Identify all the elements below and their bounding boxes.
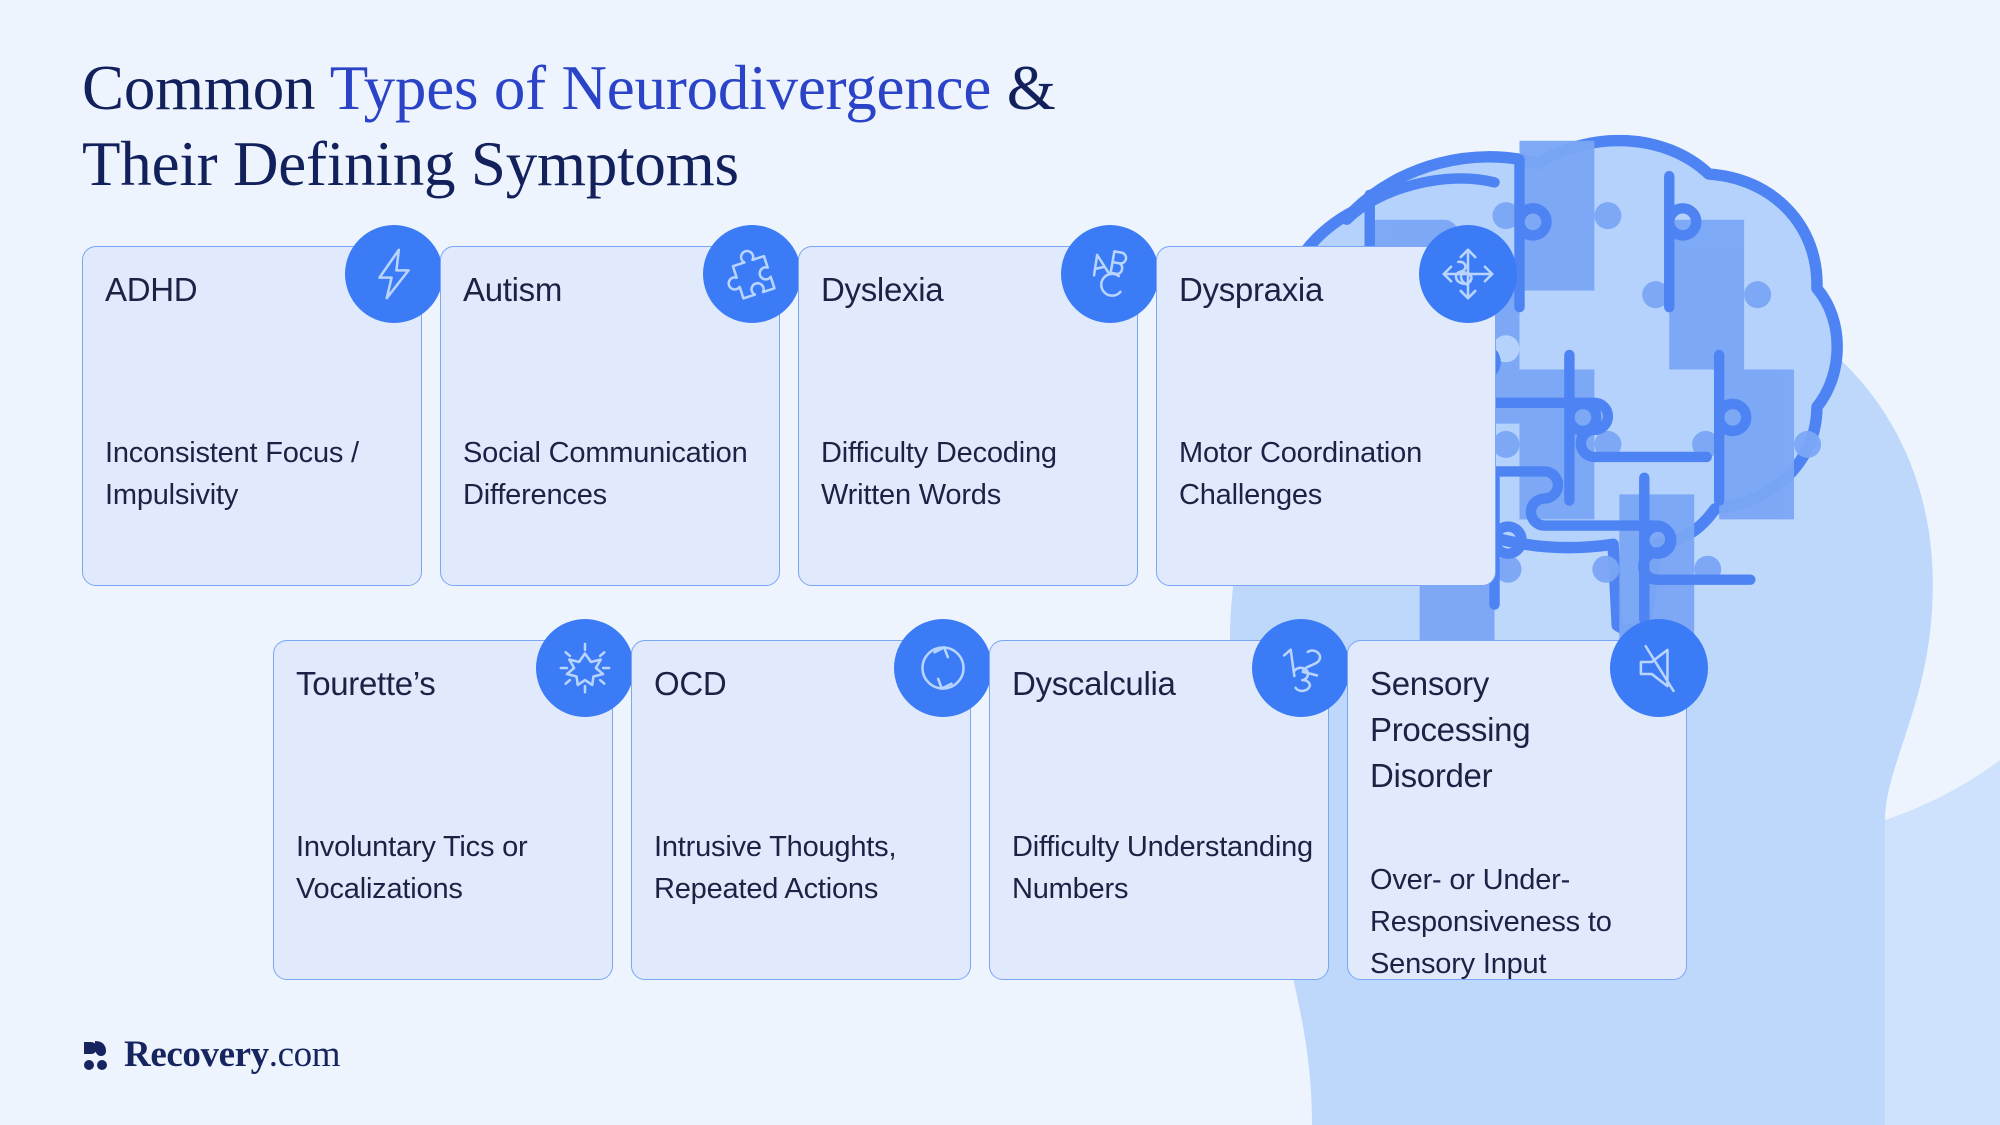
- card-tourettes[interactable]: Tourette’s Involuntary Tics or Vocalizat…: [273, 640, 613, 980]
- card-title: Dyscalculia: [1012, 661, 1232, 707]
- card-title: Dyslexia: [821, 267, 1041, 313]
- puzzle-piece-icon: [703, 225, 801, 323]
- card-dyscalculia[interactable]: Dyscalculia Difficulty Understanding Num…: [989, 640, 1329, 980]
- recovery-leaf-mark-icon: [82, 1039, 112, 1071]
- jumbled-abc-icon: [1061, 225, 1159, 323]
- title-lead: Common: [82, 53, 330, 123]
- muted-speaker-icon: [1610, 619, 1708, 717]
- card-description: Intrusive Thoughts, Repeated Actions: [654, 826, 970, 910]
- title-line-1: Common Types of Neurodivergence &: [82, 50, 1262, 126]
- card-ocd[interactable]: OCD Intrusive Thoughts, Repeated Actions: [631, 640, 971, 980]
- card-header: Tourette’s: [296, 661, 516, 707]
- card-sensory-processing-disorder[interactable]: Sensory Processing Disorder Over- or Und…: [1347, 640, 1687, 980]
- card-header: Dyscalculia: [1012, 661, 1232, 707]
- circular-loop-arrows-icon: [894, 619, 992, 717]
- card-description: Over- or Under-Responsiveness to Sensory…: [1370, 859, 1686, 985]
- starburst-icon: [536, 619, 634, 717]
- card-dyspraxia[interactable]: Dyspraxia Motor Coordination Challenges: [1156, 246, 1496, 586]
- card-description: Difficulty Understanding Numbers: [1012, 826, 1328, 910]
- title-accent: Types of Neurodivergence: [330, 53, 991, 123]
- card-title: Sensory Processing Disorder: [1370, 661, 1590, 799]
- card-description: Inconsistent Focus / Impulsivity: [105, 432, 421, 516]
- card-description: Difficulty Decoding Written Words: [821, 432, 1137, 516]
- card-header: OCD: [654, 661, 874, 707]
- title-line-2: Their Defining Symptoms: [82, 126, 1262, 202]
- card-title: Autism: [463, 267, 683, 313]
- infographic-canvas: Common Types of Neurodivergence & Their …: [0, 0, 2000, 1125]
- card-header: Autism: [463, 267, 683, 313]
- card-header: ADHD: [105, 267, 325, 313]
- card-header: Dyspraxia: [1179, 267, 1399, 313]
- card-header: Sensory Processing Disorder: [1370, 661, 1590, 799]
- card-dyslexia[interactable]: Dyslexia Difficulty Decoding Written Wor…: [798, 246, 1138, 586]
- lightning-bolt-icon: [345, 225, 443, 323]
- page-title: Common Types of Neurodivergence & Their …: [82, 50, 1262, 202]
- logo-tld: .com: [269, 1034, 340, 1075]
- card-autism[interactable]: Autism Social Communication Differences: [440, 246, 780, 586]
- card-title: Tourette’s: [296, 661, 516, 707]
- card-description: Social Communication Differences: [463, 432, 779, 516]
- card-title: ADHD: [105, 267, 325, 313]
- logo-text: Recovery.com: [124, 1036, 340, 1073]
- recovery-logo[interactable]: Recovery.com: [82, 1036, 340, 1073]
- four-way-arrows-squiggle-icon: [1419, 225, 1517, 323]
- card-description: Involuntary Tics or Vocalizations: [296, 826, 612, 910]
- card-title: OCD: [654, 661, 874, 707]
- title-tail: &: [991, 53, 1055, 123]
- card-header: Dyslexia: [821, 267, 1041, 313]
- jumbled-numbers-icon: [1252, 619, 1350, 717]
- card-adhd[interactable]: ADHD Inconsistent Focus / Impulsivity: [82, 246, 422, 586]
- logo-brand: Recovery: [124, 1034, 269, 1075]
- card-title: Dyspraxia: [1179, 267, 1399, 313]
- card-description: Motor Coordination Challenges: [1179, 432, 1495, 516]
